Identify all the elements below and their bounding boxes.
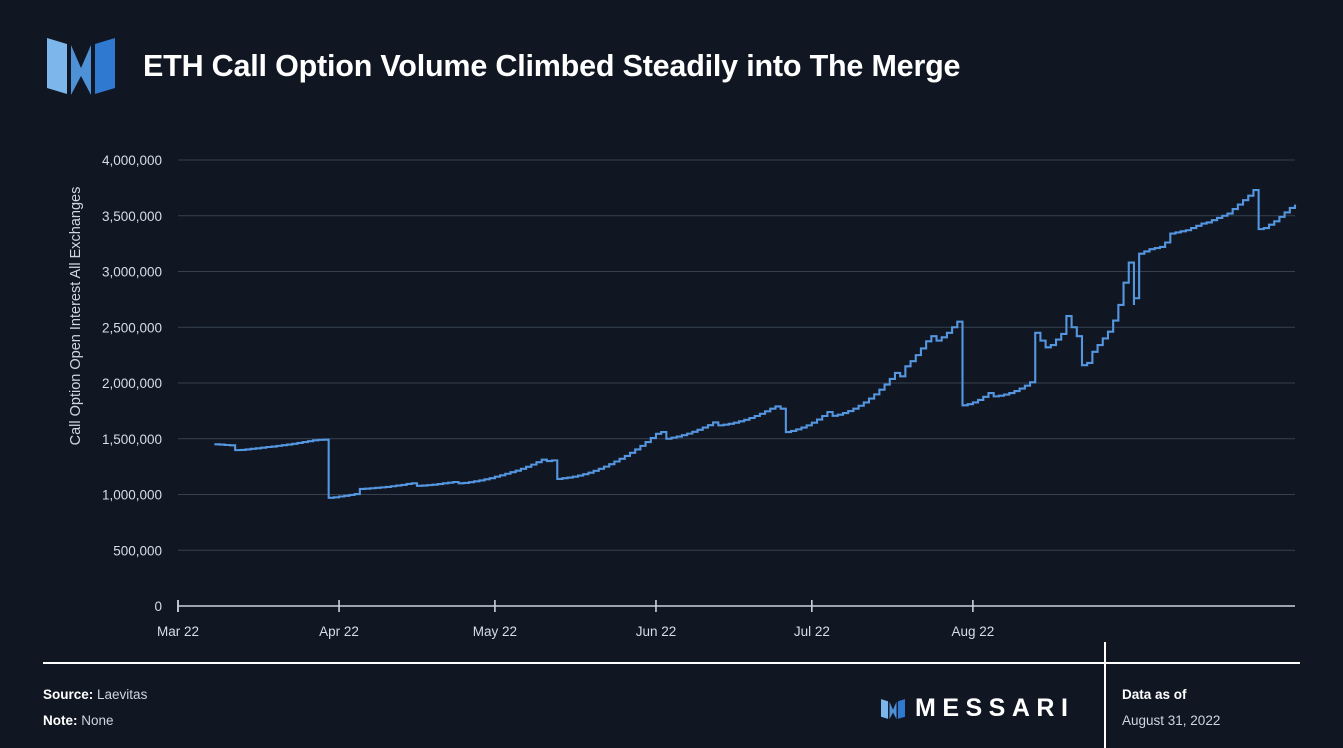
note-label: Note:: [43, 713, 78, 728]
footer-data-asof-block: Data as of August 31, 2022: [1122, 682, 1220, 734]
data-as-of-value: August 31, 2022: [1122, 708, 1220, 734]
svg-text:3,000,000: 3,000,000: [102, 265, 162, 280]
messari-brand: MESSARI: [880, 694, 1074, 723]
line-chart-plot: 0500,0001,000,0001,500,0002,000,0002,500…: [0, 120, 1343, 650]
note-line: Note: None: [43, 708, 147, 734]
svg-text:Jul 22: Jul 22: [794, 624, 830, 639]
source-line: Source: Laevitas: [43, 682, 147, 708]
svg-text:Aug 22: Aug 22: [951, 624, 994, 639]
messari-wordmark: MESSARI: [915, 694, 1074, 723]
page-header: ETH Call Option Volume Climbed Steadily …: [45, 32, 960, 100]
svg-text:500,000: 500,000: [113, 543, 162, 558]
page-footer: Source: Laevitas Note: None MESSARI Data…: [0, 650, 1343, 748]
note-value: None: [81, 713, 113, 728]
data-as-of-label: Data as of: [1122, 682, 1220, 708]
chart-page: ETH Call Option Volume Climbed Steadily …: [0, 0, 1343, 748]
page-title: ETH Call Option Volume Climbed Steadily …: [143, 49, 960, 84]
svg-text:1,000,000: 1,000,000: [102, 488, 162, 503]
svg-text:3,500,000: 3,500,000: [102, 209, 162, 224]
messari-m-logo-icon: [45, 32, 117, 100]
chart-container: Call Option Open Interest All Exchanges …: [0, 120, 1343, 650]
source-label: Source:: [43, 687, 93, 702]
svg-text:Apr 22: Apr 22: [319, 624, 359, 639]
svg-text:0: 0: [154, 599, 162, 614]
svg-text:1,500,000: 1,500,000: [102, 432, 162, 447]
svg-text:2,500,000: 2,500,000: [102, 320, 162, 335]
svg-text:Mar 22: Mar 22: [157, 624, 199, 639]
footer-divider-horizontal: [43, 662, 1300, 664]
messari-m-logo-icon: [880, 697, 906, 721]
svg-text:May 22: May 22: [473, 624, 517, 639]
svg-text:Jun 22: Jun 22: [636, 624, 677, 639]
source-value: Laevitas: [97, 687, 147, 702]
svg-text:2,000,000: 2,000,000: [102, 376, 162, 391]
footer-divider-vertical: [1104, 642, 1106, 748]
svg-text:4,000,000: 4,000,000: [102, 153, 162, 168]
footer-source-block: Source: Laevitas Note: None: [43, 682, 147, 734]
